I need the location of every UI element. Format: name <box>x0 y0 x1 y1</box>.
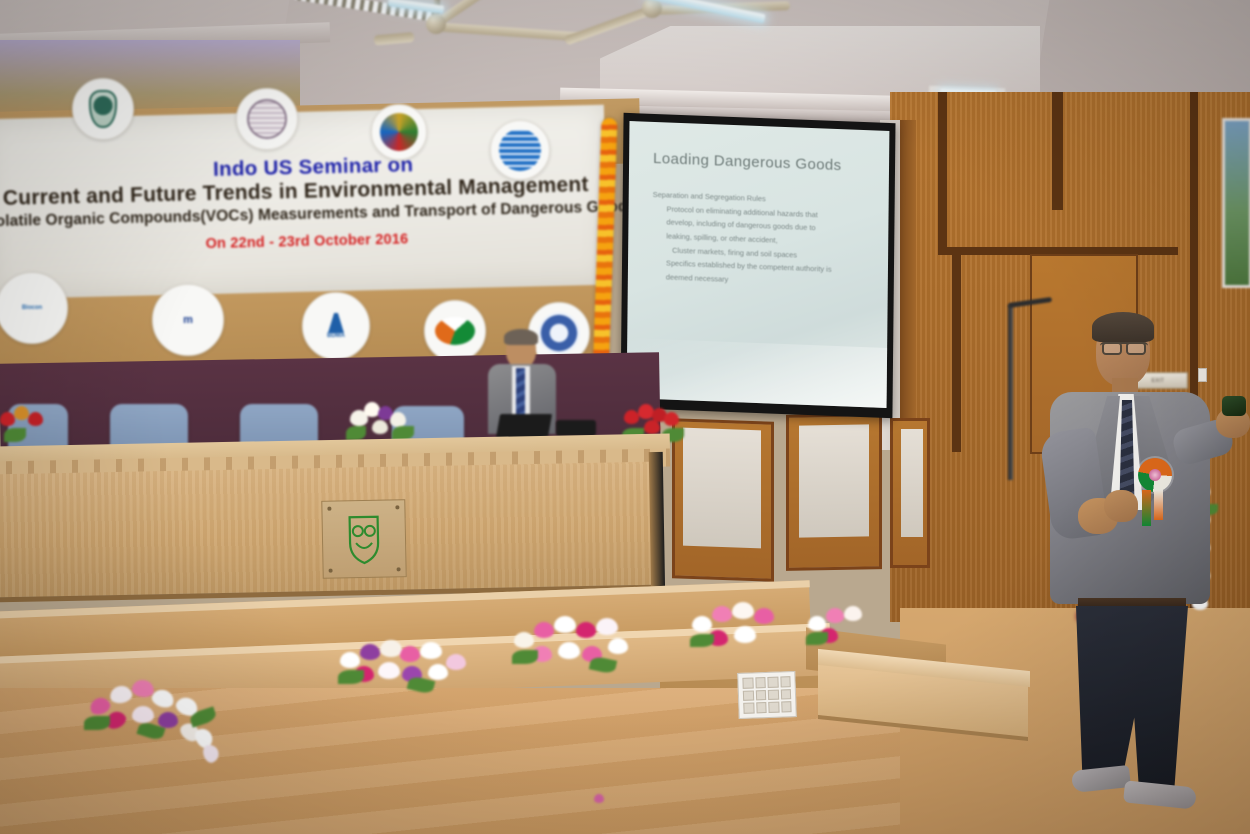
projection-screen-surface: Loading Dangerous Goods Separation and S… <box>627 121 890 408</box>
rose-arrangement <box>0 404 52 450</box>
hall-door[interactable] <box>786 413 882 571</box>
stage-flower-garland <box>336 636 516 708</box>
slide-body: Separation and Segregation Rules Protoco… <box>652 188 873 292</box>
shoe <box>1123 780 1197 809</box>
hall-door[interactable] <box>672 418 774 582</box>
stage-flower-garland <box>512 614 692 690</box>
door-panel <box>683 428 761 549</box>
switch[interactable] <box>768 689 779 700</box>
blue-globe-logo <box>490 120 550 180</box>
projection-screen: Loading Dangerous Goods Separation and S… <box>621 113 896 418</box>
banner-date: On 22nd - 23rd October 2016 <box>0 226 617 257</box>
speaker-presenting <box>1020 312 1250 812</box>
presenter-remote[interactable] <box>1222 396 1246 416</box>
switch[interactable] <box>743 703 754 714</box>
switch[interactable] <box>742 677 753 688</box>
framed-picture <box>1222 118 1250 288</box>
switch[interactable] <box>767 677 778 688</box>
fallen-petal <box>594 794 604 803</box>
screen-glare <box>627 338 888 408</box>
bdma-flask-logo: BDMA <box>302 292 370 360</box>
wall-switch-panel[interactable] <box>737 671 797 719</box>
switch[interactable] <box>743 690 754 701</box>
door-panel <box>901 429 923 537</box>
switch[interactable] <box>768 702 779 713</box>
switch[interactable] <box>780 676 791 687</box>
switch[interactable] <box>780 689 791 700</box>
stage-flower-garland <box>806 604 902 660</box>
hall-door[interactable] <box>890 418 930 568</box>
microphone-stand <box>1008 305 1013 480</box>
shoe <box>1071 765 1131 793</box>
emblem-colour-logo <box>371 104 427 160</box>
globe-society-logo <box>236 88 298 150</box>
institute-crest-plaque <box>321 499 406 579</box>
wall-divider <box>938 92 947 252</box>
dais-right-edge <box>649 452 666 602</box>
laptop-on-dais <box>496 414 552 438</box>
institute-crest-logo <box>72 78 134 140</box>
conference-hall-photograph: Indo US Seminar on Current and Future Tr… <box>0 0 1250 834</box>
institute-crest-icon <box>342 512 385 567</box>
switch[interactable] <box>781 701 792 712</box>
switch[interactable] <box>755 677 766 688</box>
wall-divider <box>1052 92 1063 210</box>
microphone-base <box>556 420 596 436</box>
door-panel <box>799 424 869 537</box>
wall-divider <box>952 252 961 452</box>
switch[interactable] <box>756 702 767 713</box>
m-brand-logo: m <box>152 284 224 356</box>
stage-flower-garland <box>84 676 274 772</box>
wall-corner-trim <box>900 120 916 460</box>
slide-title: Loading Dangerous Goods <box>653 150 842 174</box>
switch[interactable] <box>755 690 766 701</box>
